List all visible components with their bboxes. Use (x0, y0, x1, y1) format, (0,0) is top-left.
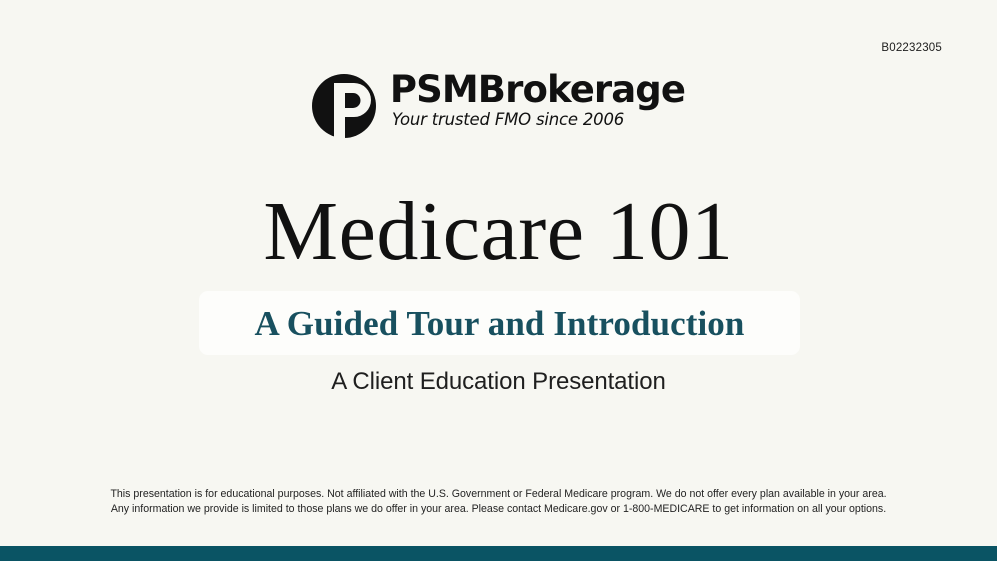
psm-circle-p-icon (312, 71, 376, 151)
document-code: B02232305 (881, 42, 942, 54)
disclaimer-line-1: This presentation is for educational pur… (0, 487, 997, 502)
presentation-slide: B02232305 PSMBrokerage Your trusted FMO … (0, 0, 997, 561)
logo-wordmark: PSMBrokerage Your trusted FMO since 2006 (390, 72, 685, 128)
logo-tagline: Your trusted FMO since 2006 (392, 111, 624, 128)
slide-kicker: A Client Education Presentation (0, 368, 997, 397)
logo-lockup: PSMBrokerage Your trusted FMO since 2006 (312, 66, 685, 151)
subtitle-banner: A Guided Tour and Introduction (199, 291, 800, 355)
logo-company-name: PSMBrokerage (390, 72, 685, 108)
disclaimer-line-2: Any information we provide is limited to… (0, 502, 997, 517)
slide-subtitle: A Guided Tour and Introduction (255, 306, 745, 341)
disclaimer: This presentation is for educational pur… (0, 487, 997, 517)
slide-title: Medicare 101 (0, 190, 997, 274)
brand-logo: PSMBrokerage Your trusted FMO since 2006 (0, 66, 997, 158)
footer-accent-bar (0, 546, 997, 561)
